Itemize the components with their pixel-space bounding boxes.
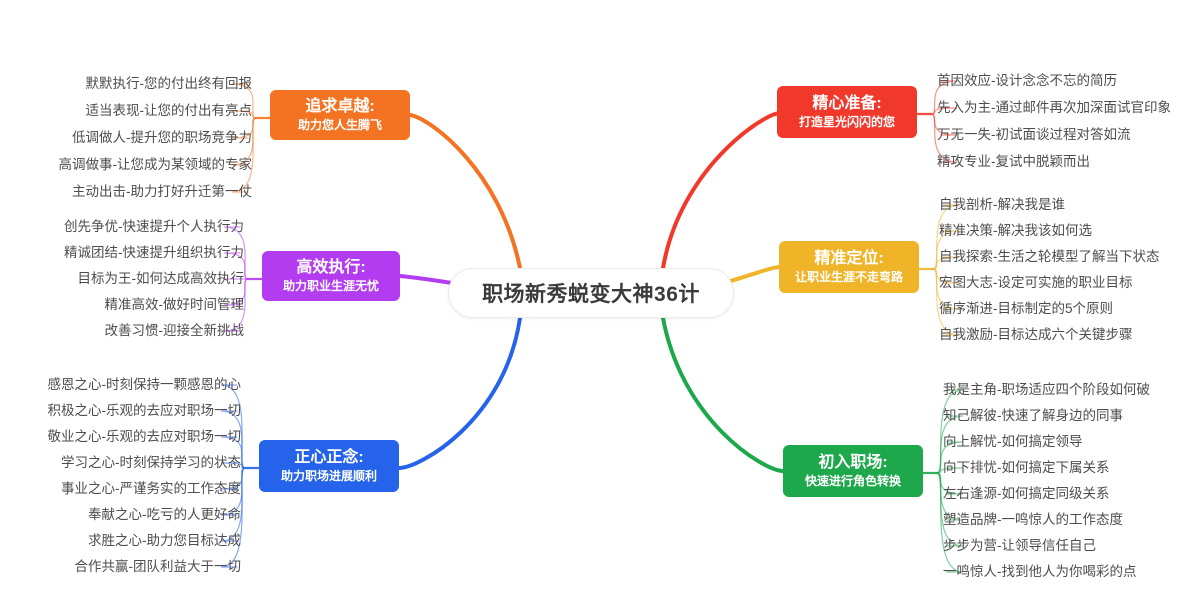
- branch-node-title: 精心准备:: [812, 94, 881, 113]
- connector-line: [731, 267, 779, 281]
- leaf-node[interactable]: 宏图大志-设定可实施的职业目标: [939, 275, 1187, 291]
- leaf-node[interactable]: 向下排忧-如何搞定下属关系: [943, 460, 1187, 476]
- leaf-node[interactable]: 合作共赢-团队利益大于一切: [0, 559, 241, 575]
- branch-node-efficient-execution[interactable]: 高效执行:助力职业生涯无忧: [262, 251, 400, 301]
- branch-node-precise-positioning[interactable]: 精准定位:让职业生涯不走弯路: [779, 241, 919, 293]
- leaf-node[interactable]: 学习之心-时刻保持学习的状态: [0, 455, 241, 471]
- branch-node-subtitle: 让职业生涯不走弯路: [795, 269, 903, 285]
- leaf-node[interactable]: 低调做人-提升您的职场竞争力: [0, 130, 252, 146]
- branch-node-subtitle: 助力职场进展顺利: [281, 468, 377, 484]
- branch-node-title: 精准定位:: [814, 249, 883, 268]
- branch-node-subtitle: 助力职业生涯无忧: [283, 278, 379, 294]
- leaf-node[interactable]: 自我剖析-解决我是谁: [939, 197, 1187, 213]
- leaf-node[interactable]: 创先争优-快速提升个人执行力: [0, 219, 244, 235]
- branch-node-title: 高效执行:: [296, 258, 365, 277]
- branch-node-subtitle: 快速进行角色转换: [805, 473, 901, 489]
- leaf-node[interactable]: 目标为王-如何达成高效执行: [0, 271, 244, 287]
- connector-line: [400, 276, 452, 283]
- connector-line: [937, 473, 963, 546]
- leaf-node[interactable]: 主动出击-助力打好升迁第一仗: [0, 184, 252, 200]
- branch-node-title: 正心正念:: [294, 448, 363, 467]
- mindmap-canvas: 职场新秀蜕变大神36计 追求卓越:助力您人生腾飞默默执行-您的付出终有回报适当表…: [0, 0, 1187, 608]
- central-node-label: 职场新秀蜕变大神36计: [482, 278, 700, 308]
- branch-node-subtitle: 打造星光闪闪的您: [799, 114, 895, 130]
- leaf-node[interactable]: 奉献之心-吃亏的人更好命: [0, 507, 241, 523]
- connector-line: [663, 113, 779, 268]
- leaf-node[interactable]: 塑造品牌-一鸣惊人的工作态度: [943, 512, 1187, 528]
- branch-node-careful-preparation[interactable]: 精心准备:打造星光闪闪的您: [777, 86, 917, 138]
- leaf-node[interactable]: 向上解忧-如何搞定领导: [943, 434, 1187, 450]
- branch-node-title: 追求卓越:: [305, 97, 374, 116]
- leaf-node[interactable]: 知己解彼-快速了解身边的同事: [943, 408, 1187, 424]
- leaf-node[interactable]: 精攻专业-复试中脱颖而出: [937, 154, 1187, 170]
- central-node[interactable]: 职场新秀蜕变大神36计: [448, 268, 734, 318]
- branch-node-right-mindset[interactable]: 正心正念:助力职场进展顺利: [259, 440, 399, 492]
- leaf-node[interactable]: 事业之心-严谨务实的工作态度: [0, 481, 241, 497]
- leaf-node[interactable]: 敬业之心-乐观的去应对职场一切: [0, 429, 241, 445]
- leaf-node[interactable]: 首因效应-设计念念不忘的简历: [937, 73, 1187, 89]
- leaf-node[interactable]: 循序渐进-目标制定的5个原则: [939, 301, 1187, 317]
- leaf-node[interactable]: 我是主角-职场适应四个阶段如何破: [943, 382, 1187, 398]
- leaf-node[interactable]: 先入为主-通过邮件再次加深面试官印象: [937, 100, 1187, 116]
- leaf-node[interactable]: 默默执行-您的付出终有回报: [0, 76, 252, 92]
- connector-line: [221, 468, 245, 541]
- leaf-node[interactable]: 精准高效-做好时间管理: [0, 297, 244, 313]
- leaf-node[interactable]: 积极之心-乐观的去应对职场一切: [0, 403, 241, 419]
- leaf-node[interactable]: 自我探索-生活之轮模型了解当下状态: [939, 249, 1187, 265]
- leaf-node[interactable]: 左右逢源-如何搞定同级关系: [943, 486, 1187, 502]
- leaf-node[interactable]: 精准决策-解决我该如何选: [939, 223, 1187, 239]
- leaf-node[interactable]: 适当表现-让您的付出有亮点: [0, 103, 252, 119]
- connector-line: [399, 318, 520, 468]
- leaf-node[interactable]: 自我激励-目标达成六个关键步骤: [939, 327, 1187, 343]
- leaf-node[interactable]: 精诚团结-快速提升组织执行力: [0, 245, 244, 261]
- branch-node-subtitle: 助力您人生腾飞: [298, 117, 382, 133]
- branch-node-entering-workplace[interactable]: 初入职场:快速进行角色转换: [783, 445, 923, 497]
- leaf-node[interactable]: 步步为营-让领导信任自己: [943, 538, 1187, 554]
- branch-node-title: 初入职场:: [818, 453, 887, 472]
- branch-node-pursue-excellence[interactable]: 追求卓越:助力您人生腾飞: [270, 90, 410, 140]
- leaf-node[interactable]: 求胜之心-助力您目标达成: [0, 533, 241, 549]
- leaf-node[interactable]: 改善习惯-迎接全新挑战: [0, 323, 244, 339]
- leaf-node[interactable]: 感恩之心-时刻保持一颗感恩的心: [0, 377, 241, 393]
- connector-line: [663, 318, 783, 471]
- leaf-node[interactable]: 一鸣惊人-找到他人为你喝彩的点: [943, 564, 1187, 580]
- leaf-node[interactable]: 高调做事-让您成为某领域的专家: [0, 157, 252, 173]
- connector-line: [410, 115, 520, 268]
- leaf-node[interactable]: 万无一失-初试面谈过程对答如流: [937, 127, 1187, 143]
